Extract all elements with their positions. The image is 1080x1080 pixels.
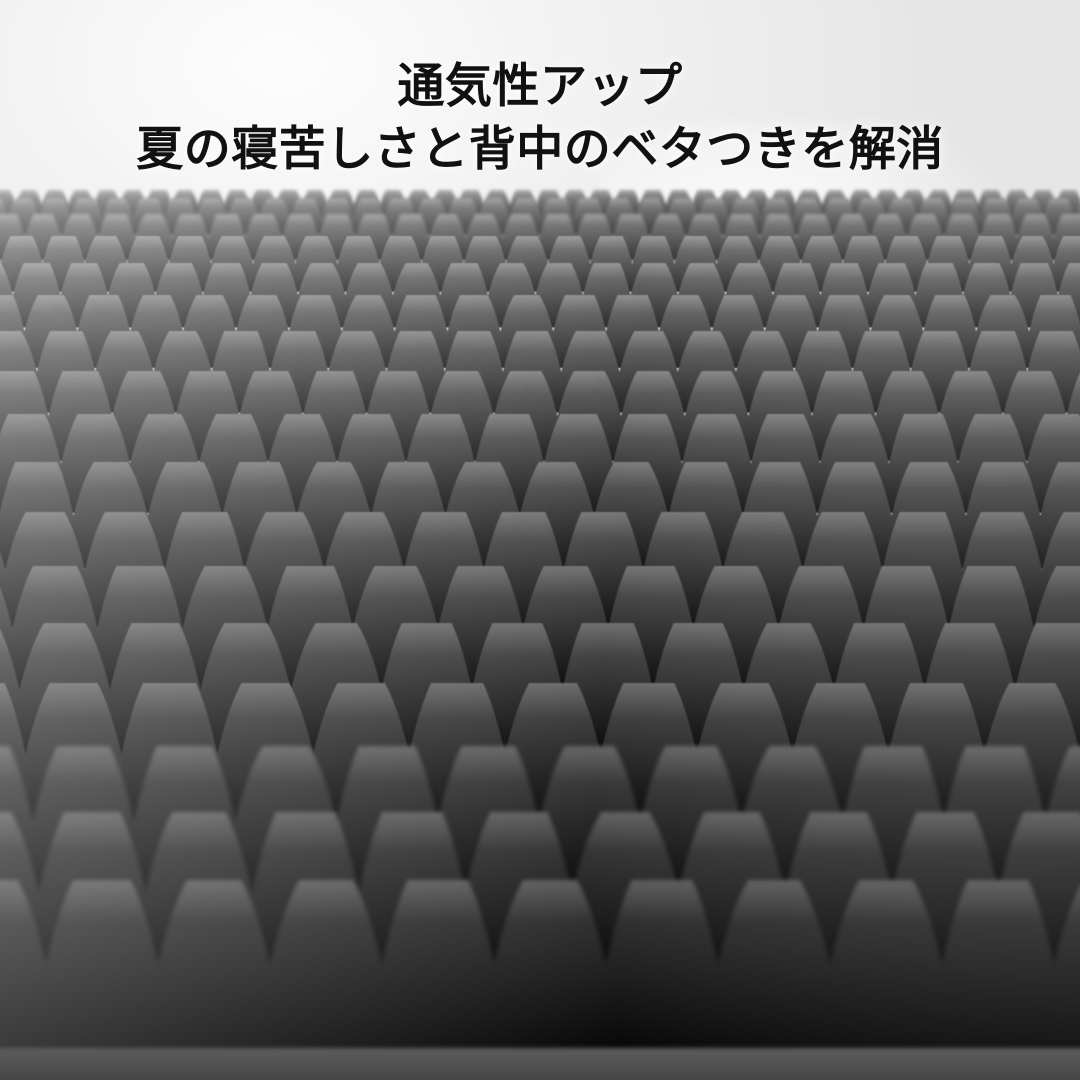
headline: 通気性アップ 夏の寝苦しさと背中のベタつきを解消: [0, 56, 1080, 178]
headline-line-1: 通気性アップ: [0, 56, 1080, 115]
foam-peak-rows: [0, 150, 1080, 910]
foam-row: [0, 880, 1080, 1048]
product-feature-image: 通気性アップ 夏の寝苦しさと背中のベタつきを解消 CertiPUR-US ®: [0, 0, 1080, 1080]
headline-line-2: 夏の寝苦しさと背中のベタつきを解消: [0, 119, 1080, 178]
